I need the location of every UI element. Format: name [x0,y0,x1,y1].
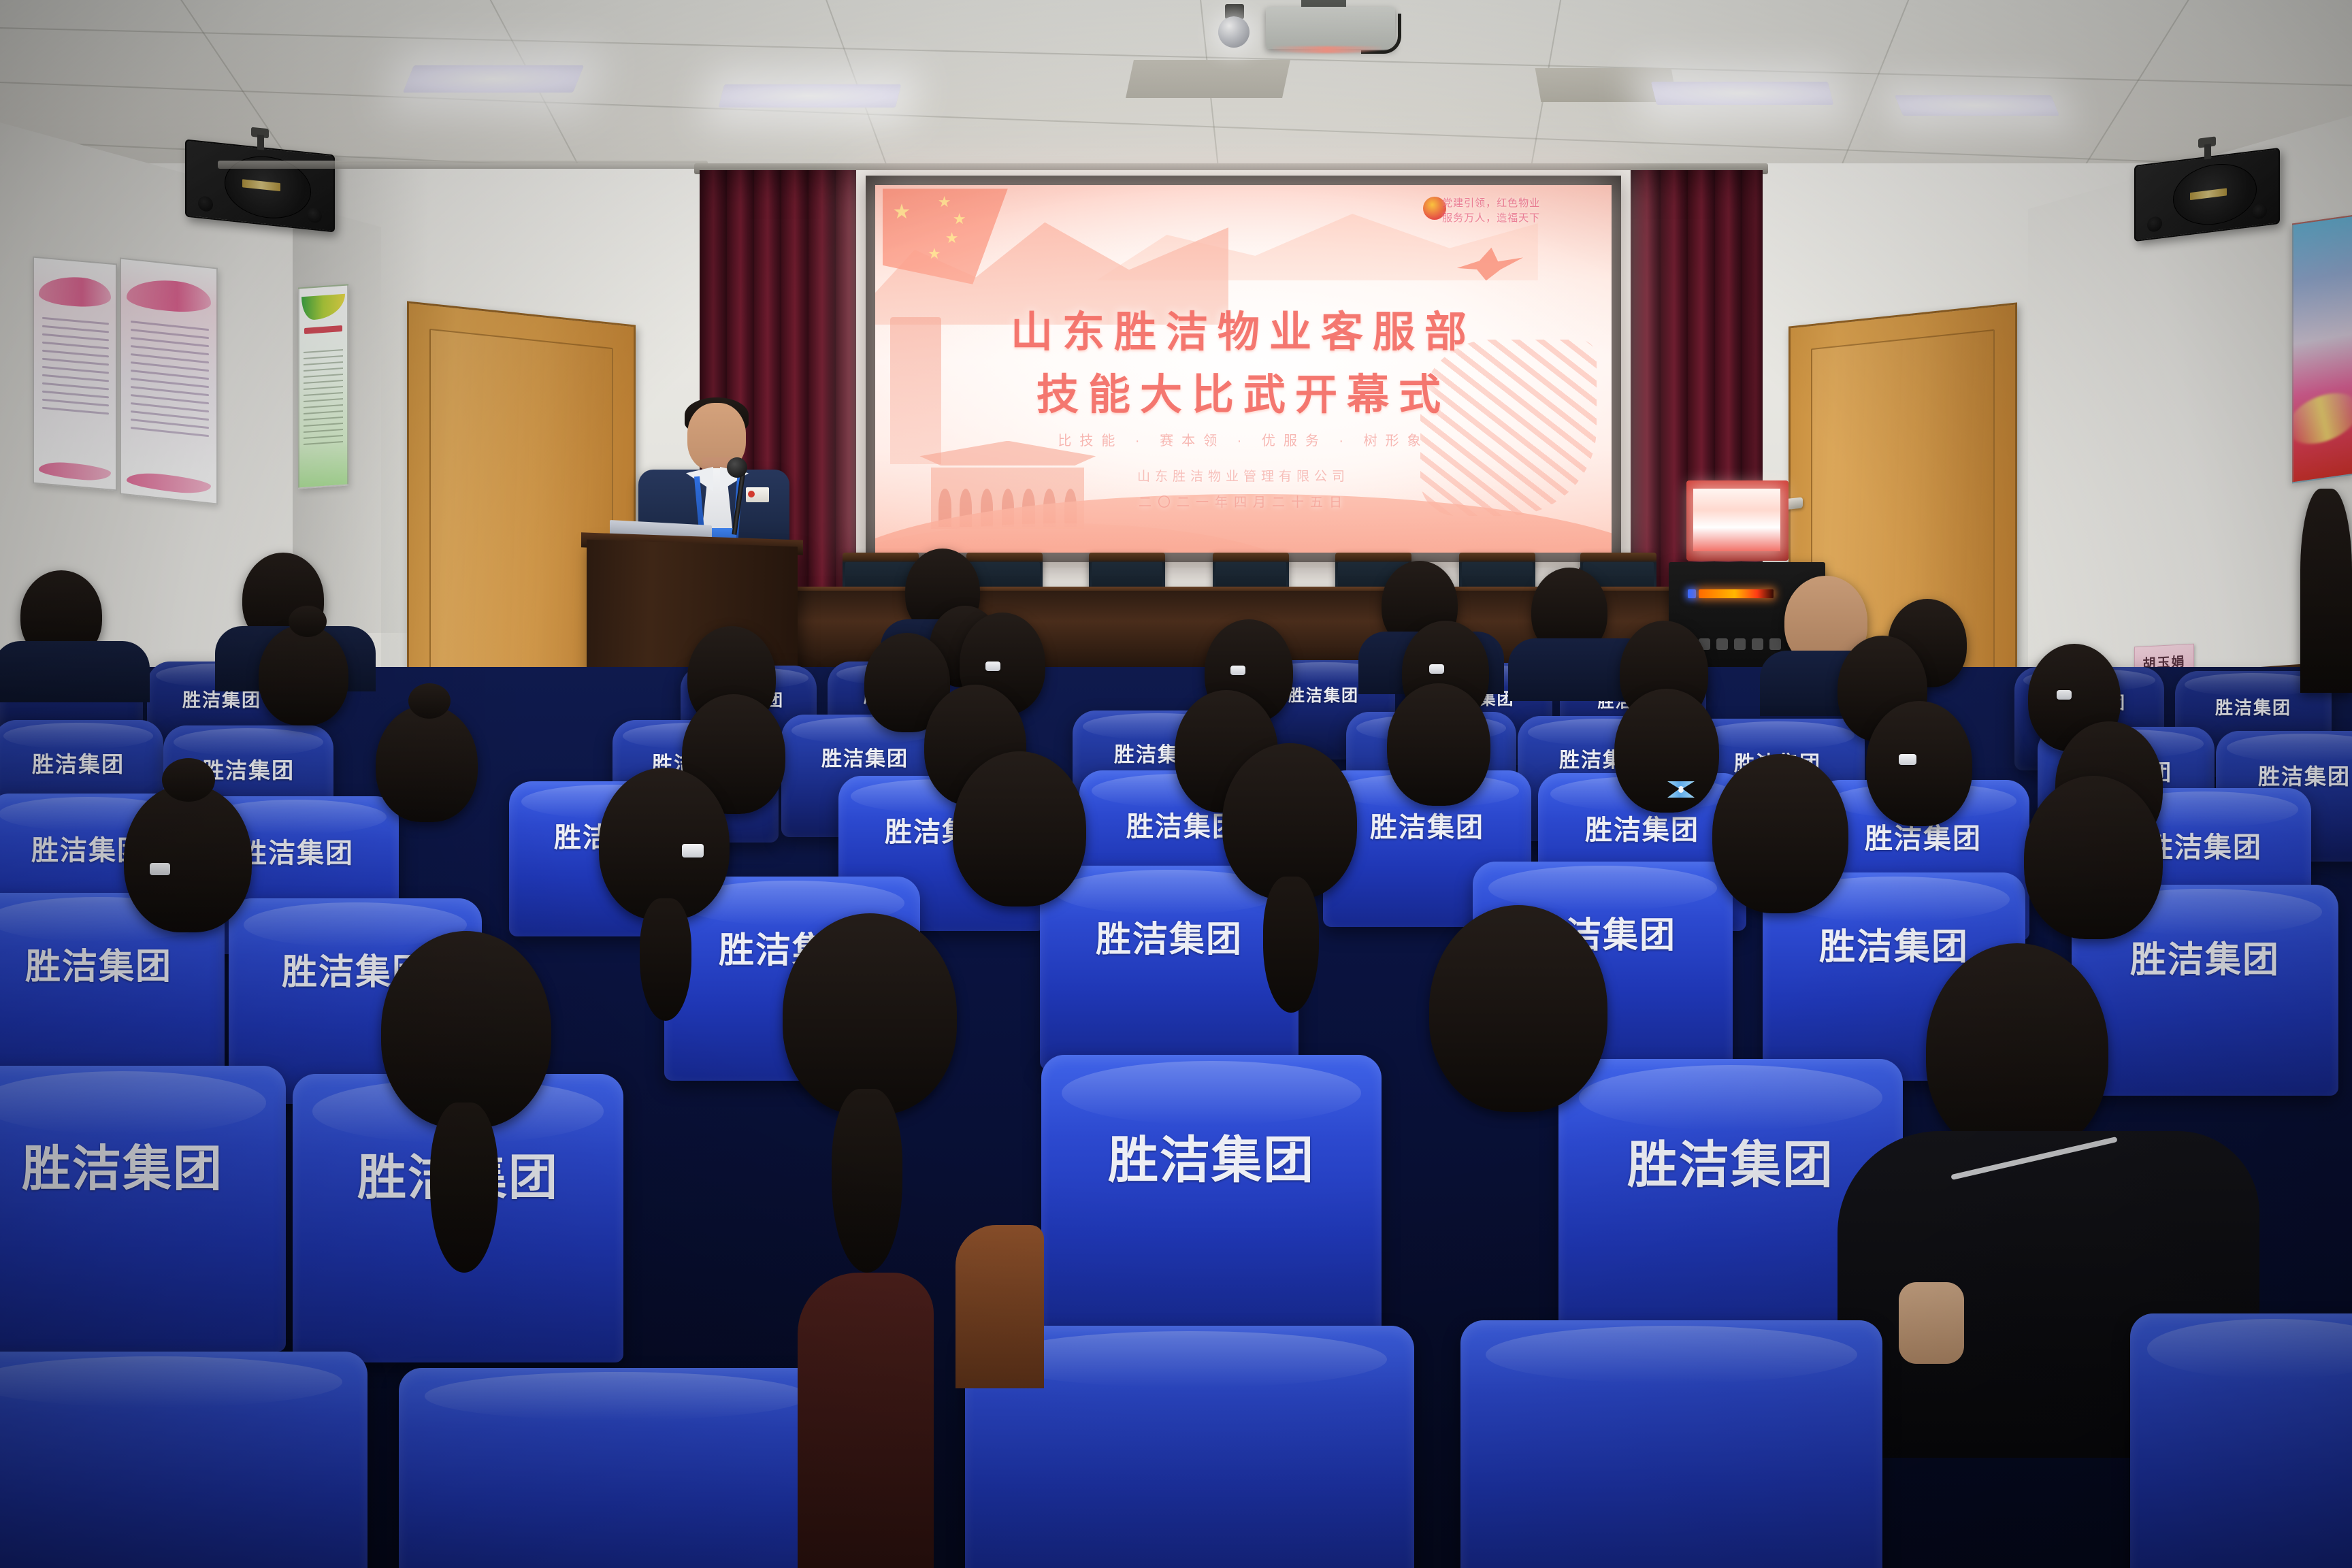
seat-logo: 胜洁集团 [1040,911,1298,962]
audience-head [2300,489,2352,693]
audience-ponytail [430,1102,498,1273]
audience-back [798,1273,934,1568]
mixer-vu-meter [1699,589,1774,598]
audience-ponytail [640,898,691,1021]
wall-poster-left-back [33,257,117,491]
seat-logo: 胜洁集团 [0,1128,286,1200]
seat[interactable]: 胜洁集团 [1040,866,1298,1070]
audience-hair-bun [289,606,327,637]
seat[interactable] [0,1352,367,1568]
loudspeaker-icon [185,139,335,232]
audience-head [599,768,730,920]
ceiling-light-panel [1651,82,1833,105]
hair-clip [682,844,704,857]
projection-screen: ★ ★ ★ ★ ★ 党建引领，红色物业 服务万人，造福天下 山东胜洁物业客服部 … [875,185,1612,553]
seat-logo: 胜洁集团 [2072,931,2338,983]
hair-clip [1899,754,1916,765]
screen-subtitle-line-1: 比技能 · 赛本领 · 优服务 · 树形象 [875,429,1612,449]
audience-head [2024,776,2163,939]
audience-head [381,931,551,1128]
hair-clip [2057,690,2072,700]
wall-poster-green [298,284,348,489]
seat[interactable] [1460,1320,1882,1568]
seat-logo: 胜洁集团 [2175,694,2332,719]
audience-hair-bun [162,758,215,802]
hair-clip [1429,664,1444,674]
ceiling-vent [1126,60,1290,98]
audience-head [1614,689,1719,813]
audience-ponytail [1263,877,1319,1013]
audience-head [1712,754,1848,913]
wall-poster-left [120,257,218,504]
disco-ball-icon [1218,16,1249,48]
projector-light-beam [1273,46,1382,53]
monitor-icon [1693,489,1780,551]
seat[interactable] [2130,1313,2352,1568]
audience-head [1866,701,1972,826]
ceiling-light-panel [719,84,901,108]
audience-shoulders [0,641,150,702]
audience-head [1926,943,2108,1156]
wood-armrest [955,1225,1044,1388]
hair-clip [150,863,170,875]
audience-head [1387,683,1490,806]
seat-logo: 胜洁集团 [0,747,163,779]
screen-subtitle-line-2: 山东胜洁物业管理有限公司 [875,466,1612,485]
screen-slogan-line-1: 党建引领，红色物业 [1442,196,1589,211]
audience-hair-bun [408,683,451,719]
mixer-power-led [1688,589,1696,598]
wall-poster-right [2292,215,2352,484]
audience-head [783,913,957,1115]
screen-title-line-2: 技能大比武开幕式 [875,360,1612,421]
hair-clip [1230,666,1245,675]
seat-logo: 胜洁集团 [2216,759,2352,791]
hair-clip [985,661,1000,671]
seat[interactable]: 胜洁集团 [1041,1055,1382,1347]
screen-title-line-1: 山东胜洁物业客服部 [875,297,1612,359]
audience-head [1429,905,1607,1112]
microphone-icon [727,457,747,478]
presenter-name-pin [746,487,769,502]
audience-head [124,784,252,932]
seat-logo: 胜洁集团 [0,938,225,989]
ceiling-light-panel [1895,95,2059,116]
curtain-rod [218,161,708,169]
seat-logo: 胜洁集团 [1041,1120,1382,1192]
audience-head [259,625,348,725]
ceiling-light-panel [403,65,584,93]
conference-hall-photo: ★ ★ ★ ★ ★ 党建引领，红色物业 服务万人，造福天下 山东胜洁物业客服部 … [0,0,2352,1568]
screen-slogan-line-2: 服务万人，造福天下 [1442,211,1589,226]
audience-head [953,751,1086,906]
screen-slogan: 党建引领，红色物业 服务万人，造福天下 [1442,196,1589,226]
seat[interactable]: 胜洁集团 [0,1066,286,1352]
seat[interactable] [399,1368,834,1568]
audience-hand [1899,1282,1964,1364]
screen-subtitle-line-3: 二〇二一年四月二十五日 [875,492,1612,510]
audience-ponytail [832,1089,902,1273]
audience-head [376,705,478,822]
